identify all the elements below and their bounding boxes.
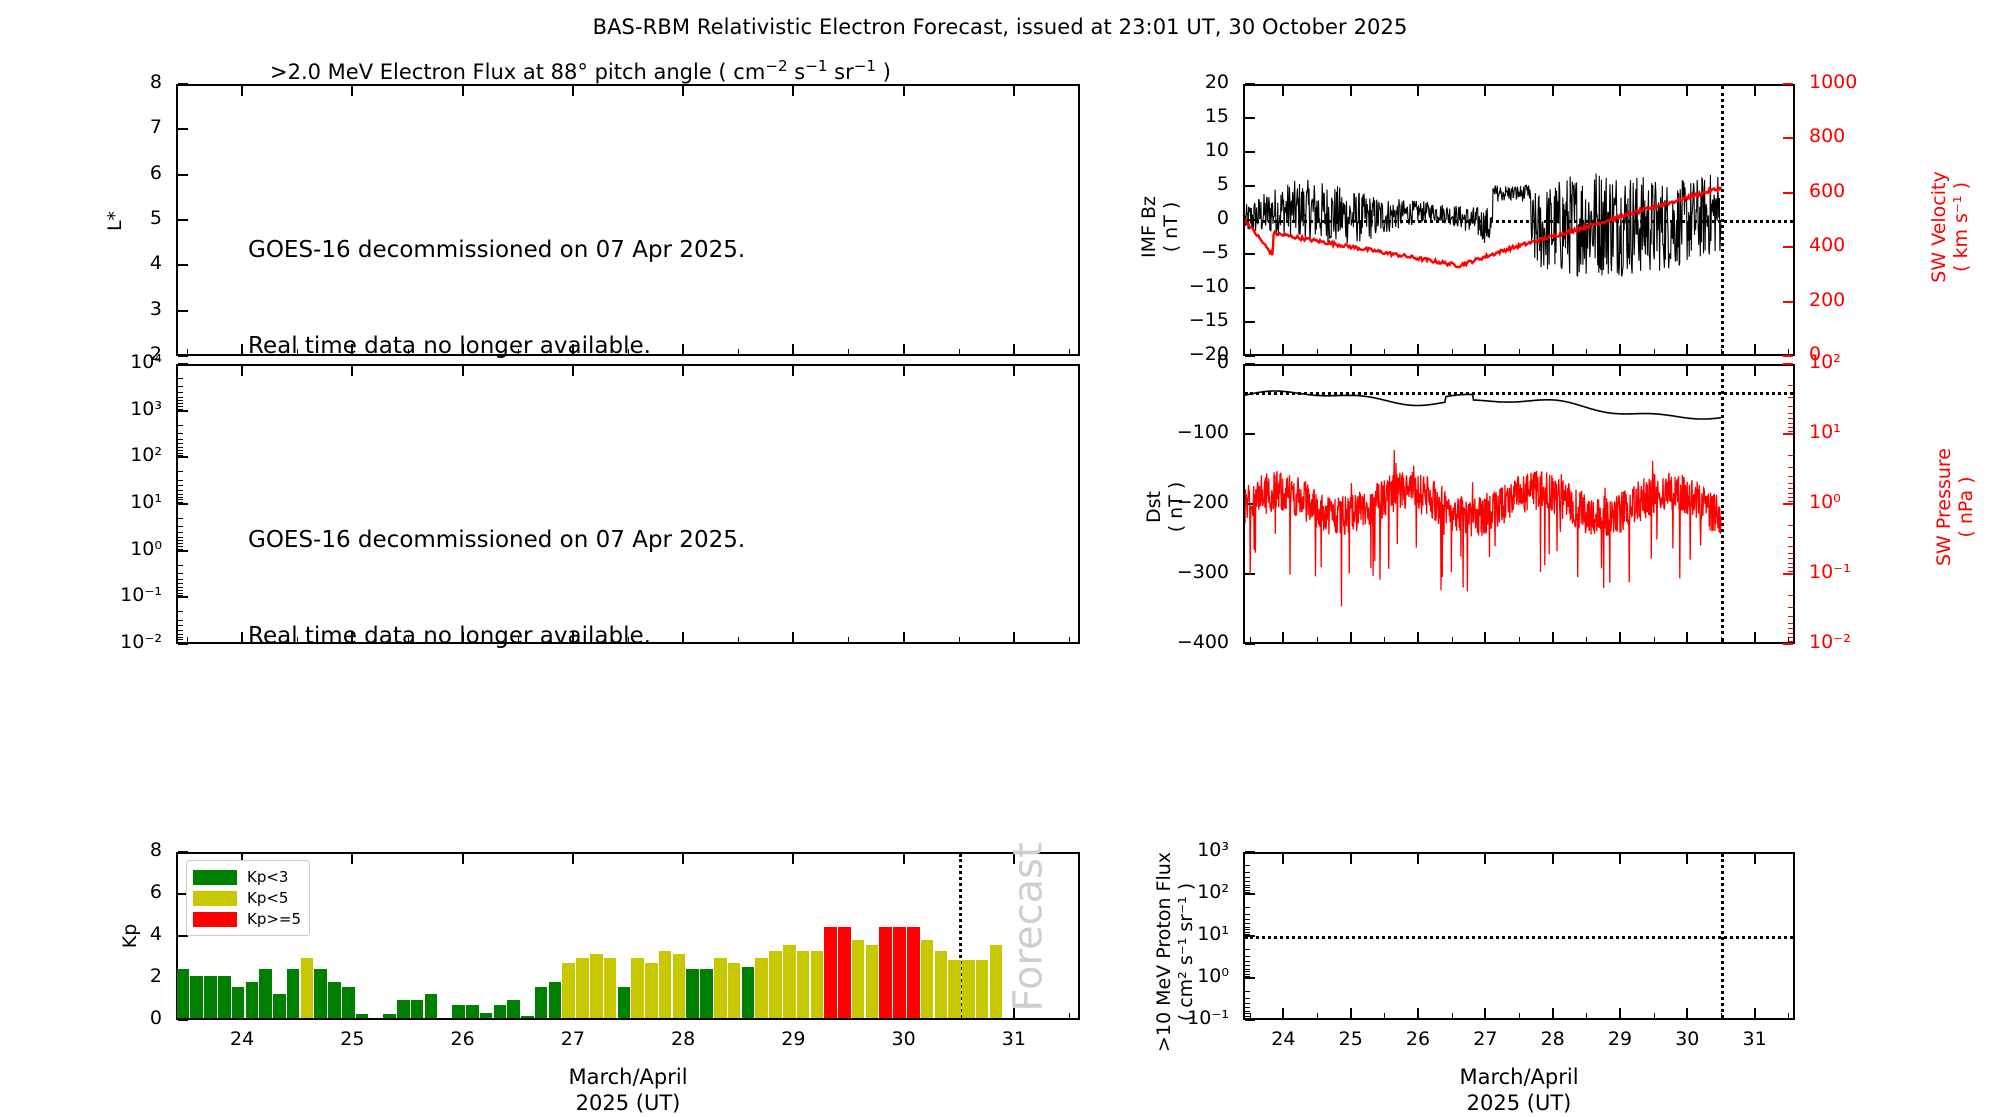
flux-y-minortick — [178, 397, 183, 398]
flux-xminortick — [242, 637, 243, 642]
proton-y-minortick — [1245, 919, 1250, 920]
proton-xtick-5: 29 — [1590, 1028, 1650, 1050]
flux-xminortick — [573, 637, 574, 642]
dst-y-tick-0: 0 — [1151, 351, 1229, 373]
kp-xtick-7: 31 — [984, 1028, 1044, 1050]
kp-bar — [480, 1013, 493, 1018]
lstar-xminortick — [297, 349, 298, 354]
flux-y-minortick — [178, 386, 183, 387]
proton-xtickmark-top-3 — [1484, 854, 1486, 864]
flux-y-minortick — [178, 409, 183, 410]
dst-line — [1245, 391, 1721, 419]
flux-y-minortick — [178, 499, 183, 500]
kp-xaxis-label-line1: March/April — [428, 1064, 828, 1090]
flux-y-tickmark-3 — [178, 503, 188, 505]
kp-xtickmark-top-1 — [351, 854, 353, 864]
flux-y-tick-6: 10⁻² — [84, 631, 162, 653]
imf-bz-series — [1245, 86, 1793, 354]
flux-y-minortick — [178, 403, 183, 404]
kp-bar — [535, 987, 548, 1018]
kp-bar — [549, 982, 562, 1018]
proton-xtickmark-top-5 — [1619, 854, 1621, 864]
flux-y-minortick — [178, 611, 183, 612]
subtitle-main: >2.0 MeV Electron Flux at 88 — [270, 60, 577, 84]
kp-bar — [177, 969, 190, 1018]
imf-y-tick-5: −5 — [1151, 241, 1229, 263]
swpres-y-tickmark-0 — [1783, 363, 1793, 365]
proton-xminortick — [1418, 1013, 1419, 1018]
flux-y-minortick — [178, 537, 183, 538]
kp-xtick-1: 25 — [322, 1028, 382, 1050]
lstar-y-tickmark-1 — [178, 128, 188, 130]
kp-legend-swatch-2 — [193, 912, 237, 927]
flux-y-tick-1: 10³ — [84, 398, 162, 420]
kp-xtickmark-top-6 — [903, 854, 905, 864]
imf-y-tickmark-8 — [1245, 355, 1255, 357]
swpres-y-tick-4: 10⁻² — [1809, 631, 1899, 653]
swvel-y-tick-0: 1000 — [1809, 71, 1899, 93]
flux-y-minortick — [178, 532, 183, 533]
proton-y-minortick — [1245, 927, 1250, 928]
kp-bar — [797, 951, 810, 1018]
kp-bar — [301, 958, 314, 1018]
flux-xminortick — [848, 637, 849, 642]
kp-bar — [190, 976, 203, 1018]
flux-xtickmark-top-5 — [792, 366, 794, 376]
kp-legend-swatch-1 — [193, 891, 237, 906]
flux-xminortick — [408, 637, 409, 642]
kp-bar — [879, 927, 892, 1018]
kp-bar — [397, 1000, 410, 1018]
kp-bar — [907, 927, 920, 1018]
proton-y-minortick — [1245, 991, 1250, 992]
lstar-y-tick-5: 3 — [84, 298, 162, 320]
swvel-y-tick-3: 400 — [1809, 234, 1899, 256]
lstar-y-tickmark-2 — [178, 174, 188, 176]
flux-y-minortick — [178, 400, 183, 401]
kp-bar — [811, 951, 824, 1018]
swvel-y-tick-2: 600 — [1809, 180, 1899, 202]
kp-bar — [659, 951, 672, 1018]
kp-xtick-4: 28 — [653, 1028, 713, 1050]
swvel-y-tickmark-0 — [1783, 83, 1793, 85]
imf-y-tick-7: −15 — [1151, 309, 1229, 331]
kp-bar — [356, 1014, 369, 1018]
flux-y-minortick — [178, 450, 183, 451]
flux-xminortick — [683, 637, 684, 642]
swpres-y-tick-1: 10¹ — [1809, 421, 1899, 443]
kp-y-tick-1: 6 — [84, 881, 162, 903]
proton-y-minortick — [1245, 887, 1250, 888]
flux-y-minortick — [178, 453, 183, 454]
lstar-y-tickmark-0 — [178, 83, 188, 85]
flux-xminortick — [738, 637, 739, 642]
lstar-xtickmark-top-6 — [903, 86, 905, 96]
flux-y-tickmark-4 — [178, 550, 188, 552]
proton-threshold-line — [1245, 936, 1793, 939]
dst-y-tickmark-0 — [1245, 363, 1255, 365]
flux-y-minortick — [178, 587, 183, 588]
proton-xminortick — [1485, 1013, 1486, 1018]
subtitle-exp-3: −1 — [854, 57, 876, 75]
lstar-xtickmark-top-4 — [682, 86, 684, 96]
kp-xtickmark-top-4 — [682, 854, 684, 864]
lstar-xminortick — [1069, 349, 1070, 354]
proton-xminortick — [1351, 1013, 1352, 1018]
flux-y-minortick — [178, 595, 183, 596]
flux-y-minortick — [178, 447, 183, 448]
proton-xminortick — [1620, 1013, 1621, 1018]
proton-y-minortick — [1245, 1018, 1250, 1019]
page-title: BAS-RBM Relativistic Electron Forecast, … — [0, 15, 2000, 39]
proton-y-minortick — [1245, 969, 1250, 970]
kp-bar — [769, 951, 782, 1018]
dst-series — [1245, 366, 1793, 642]
kp-legend-label-2: Kp>=5 — [247, 912, 301, 927]
dst-y-tickmark-4 — [1245, 643, 1255, 645]
flux-y-minortick — [178, 642, 183, 643]
flux-xminortick — [297, 637, 298, 642]
kp-bar — [328, 982, 341, 1018]
proton-y-minortick — [1245, 965, 1250, 966]
proton-y-minortick — [1245, 929, 1250, 930]
lstar-y-tickmark-3 — [178, 219, 188, 221]
proton-xminortick — [1788, 1013, 1789, 1018]
flux-xtickmark-top-2 — [462, 366, 464, 376]
kp-bar — [232, 987, 245, 1018]
lstar-xminortick — [352, 349, 353, 354]
kp-xtickmark-top-5 — [792, 854, 794, 864]
kp-xtick-5: 29 — [763, 1028, 823, 1050]
lstar-xminortick — [187, 349, 188, 354]
lstar-xtickmark-top-5 — [792, 86, 794, 96]
lstar-xminortick — [1014, 349, 1015, 354]
flux-xminortick — [1014, 637, 1015, 642]
flux-y-minortick — [178, 579, 183, 580]
lstar-xminortick — [683, 349, 684, 354]
kp-bar — [246, 982, 259, 1018]
flux-y-tick-3: 10¹ — [84, 491, 162, 513]
proton-xminortick — [1452, 1013, 1453, 1018]
flux-y-minortick — [178, 443, 183, 444]
flux-y-minortick — [178, 433, 183, 434]
proton-xaxis-label-line1: March/April — [1319, 1064, 1719, 1090]
proton-y-tickmark-3 — [1245, 977, 1255, 979]
proton-xminortick — [1586, 1013, 1587, 1018]
flux-y-minortick — [178, 490, 183, 491]
flux-xtickmark-top-0 — [241, 366, 243, 376]
proton-y-minortick — [1245, 885, 1250, 886]
electron-flux-subtitle: >2.0 MeV Electron Flux at 88° pitch angl… — [270, 57, 891, 84]
flux-y-minortick — [178, 546, 183, 547]
flux-y-minortick — [178, 593, 183, 594]
subtitle-mid-1: s — [788, 60, 806, 84]
proton-y-tick-2: 10¹ — [1151, 923, 1229, 945]
swpres-y-tick-3: 10⁻¹ — [1809, 561, 1899, 583]
swvel-y-tick-4: 200 — [1809, 289, 1899, 311]
lstar-xminortick — [463, 349, 464, 354]
proton-xtick-2: 26 — [1388, 1028, 1448, 1050]
lstar-xtickmark-top-2 — [462, 86, 464, 96]
flux-xtickmark-top-6 — [903, 366, 905, 376]
kp-y-tick-3: 2 — [84, 965, 162, 987]
flux-no-data-message: GOES-16 decommissioned on 07 Apr 2025. R… — [248, 462, 745, 716]
flux-y-tick-0: 10⁴ — [84, 351, 162, 373]
proton-y-minortick — [1245, 914, 1250, 915]
flux-y-minortick — [178, 573, 183, 574]
proton-y-minortick — [1245, 865, 1250, 866]
proton-y-minortick — [1245, 949, 1250, 950]
swvel-y-tick-1: 800 — [1809, 125, 1899, 147]
lstar-y-tickmark-5 — [178, 310, 188, 312]
kp-bar — [259, 969, 272, 1018]
kp-bar — [604, 958, 617, 1018]
kp-legend-item-1: Kp<5 — [193, 888, 301, 908]
imf-y-tick-2: 10 — [1151, 139, 1229, 161]
kp-bar — [383, 1014, 396, 1018]
kp-legend-label-1: Kp<5 — [247, 891, 288, 906]
proton-xaxis-label: March/April2025 (UT) — [1319, 1064, 1719, 1117]
flux-y-minortick — [178, 455, 183, 456]
kp-bar — [204, 976, 217, 1018]
kp-xaxis-label-line2: 2025 (UT) — [428, 1090, 828, 1116]
dst-y-tick-2: −200 — [1151, 491, 1229, 513]
proton-y-minortick — [1245, 1003, 1250, 1004]
proton-y-minortick — [1245, 881, 1250, 882]
kp-legend-swatch-0 — [193, 870, 237, 885]
flux-y-minortick — [178, 565, 183, 566]
flux-y-minortick — [178, 406, 183, 407]
proton-y-tick-3: 10⁰ — [1151, 965, 1229, 987]
kp-bar — [218, 976, 231, 1018]
flux-y-minortick — [178, 471, 183, 472]
sw-pressure-ylabel-line1: SW Pressure — [1933, 432, 1955, 582]
proton-y-minortick — [1245, 907, 1250, 908]
lstar-xminortick — [959, 349, 960, 354]
flux-xtickmark-top-1 — [351, 366, 353, 376]
imf-y-tick-0: 20 — [1151, 71, 1229, 93]
kp-bar — [962, 960, 975, 1018]
flux-xtickmark-top-4 — [682, 366, 684, 376]
lstar-xtickmark-top-7 — [1013, 86, 1015, 96]
kp-xminortick — [1014, 1013, 1015, 1018]
lstar-msg-line1: GOES-16 decommissioned on 07 Apr 2025. — [248, 235, 745, 267]
kp-bar — [935, 951, 948, 1018]
proton-y-minortick — [1245, 890, 1250, 891]
proton-y-minortick — [1245, 961, 1250, 962]
flux-y-minortick — [178, 637, 183, 638]
flux-msg-line2: Real time data no longer available. — [248, 621, 745, 653]
proton-y-minortick — [1245, 932, 1250, 933]
kp-bar — [521, 1016, 534, 1018]
lstar-xminortick — [848, 349, 849, 354]
proton-y-minortick — [1245, 934, 1250, 935]
swpres-y-tick-0: 10² — [1809, 351, 1899, 373]
kp-y-tick-2: 4 — [84, 923, 162, 945]
flux-y-minortick — [178, 583, 183, 584]
sw-velocity-ylabel: SW Velocity ( km s⁻¹ ) — [1928, 157, 1972, 297]
flux-y-minortick — [178, 502, 183, 503]
kp-bar — [686, 969, 699, 1018]
flux-xminortick — [793, 637, 794, 642]
lstar-y-tick-2: 6 — [84, 162, 162, 184]
kp-legend-label-0: Kp<3 — [247, 870, 288, 885]
kp-bar — [562, 963, 575, 1018]
proton-y-tick-0: 10³ — [1151, 839, 1229, 861]
proton-y-tickmark-4 — [1245, 1019, 1255, 1021]
kp-bar — [783, 945, 796, 1018]
proton-xminortick — [1283, 1013, 1284, 1018]
flux-y-minortick — [178, 590, 183, 591]
proton-xminortick — [1317, 1013, 1318, 1018]
proton-y-minortick — [1245, 998, 1250, 999]
kp-bar — [742, 967, 755, 1018]
subtitle-end: ) — [876, 60, 891, 84]
kp-bar — [976, 960, 989, 1018]
subtitle-tail: pitch angle ( cm — [588, 60, 765, 84]
kp-bar — [866, 945, 879, 1018]
kp-legend-item-0: Kp<3 — [193, 867, 301, 887]
lstar-xminortick — [573, 349, 574, 354]
lstar-y-tickmark-6 — [178, 355, 188, 357]
flux-y-minortick — [178, 392, 183, 393]
flux-xtickmark-top-7 — [1013, 366, 1015, 376]
proton-xtickmark-top-2 — [1417, 854, 1419, 864]
kp-bar — [576, 958, 589, 1018]
subtitle-exp-1: −2 — [765, 57, 787, 75]
subtitle-mid-2: sr — [828, 60, 854, 84]
kp-xtick-6: 30 — [874, 1028, 934, 1050]
kp-bar — [714, 958, 727, 1018]
flux-xminortick — [959, 637, 960, 642]
flux-y-tick-4: 10⁰ — [84, 538, 162, 560]
flux-y-minortick — [178, 378, 183, 379]
proton-y-tick-4: 10⁻¹ — [1151, 1007, 1229, 1029]
proton-y-tickmark-0 — [1245, 851, 1255, 853]
proton-y-minortick — [1245, 956, 1250, 957]
proton-xminortick — [1654, 1013, 1655, 1018]
proton-y-minortick — [1245, 974, 1250, 975]
kp-xminortick — [1069, 1013, 1070, 1018]
kp-y-tickmark-0 — [178, 851, 188, 853]
proton-xtickmark-top-6 — [1686, 854, 1688, 864]
flux-y-minortick — [178, 620, 183, 621]
proton-xminortick — [1687, 1013, 1688, 1018]
flux-xminortick — [518, 637, 519, 642]
flux-y-minortick — [178, 494, 183, 495]
proton-xaxis-label-line2: 2025 (UT) — [1319, 1090, 1719, 1116]
imf-y-tick-1: 15 — [1151, 105, 1229, 127]
dst-y-tick-3: −300 — [1151, 561, 1229, 583]
proton-y-minortick — [1245, 877, 1250, 878]
kp-bar — [728, 963, 741, 1018]
swpres-y-tickmark-4 — [1783, 643, 1793, 645]
dst-y-tick-1: −100 — [1151, 421, 1229, 443]
lstar-msg-line2: Real time data no longer available. — [248, 331, 745, 363]
flux-xtickmark-top-3 — [572, 366, 574, 376]
proton-xtick-0: 24 — [1253, 1028, 1313, 1050]
flux-xminortick — [463, 637, 464, 642]
imf-y-tickmark-0 — [1245, 83, 1255, 85]
sw-pressure-ylabel: SW Pressure ( nPa ) — [1933, 432, 1977, 582]
proton-xtickmark-top-7 — [1754, 854, 1756, 864]
flux-y-minortick — [178, 625, 183, 626]
kp-y-tickmark-4 — [178, 1019, 188, 1021]
lstar-xminortick — [628, 349, 629, 354]
flux-y-tickmark-6 — [178, 643, 188, 645]
kp-bar — [273, 994, 286, 1018]
kp-bar — [948, 960, 961, 1018]
proton-y-minortick — [1245, 923, 1250, 924]
lstar-xtickmark-top-1 — [351, 86, 353, 96]
imf-y-tick-6: −10 — [1151, 275, 1229, 297]
kp-bar — [425, 994, 438, 1018]
flux-y-minortick — [178, 543, 183, 544]
lstar-y-tick-3: 5 — [84, 207, 162, 229]
flux-y-minortick — [178, 439, 183, 440]
lstar-xminortick — [518, 349, 519, 354]
swpres-y-tick-2: 10⁰ — [1809, 491, 1899, 513]
kp-bar — [673, 954, 686, 1018]
lstar-xminortick — [242, 349, 243, 354]
proton-xtick-1: 25 — [1321, 1028, 1381, 1050]
flux-y-tick-5: 10⁻¹ — [84, 584, 162, 606]
sw-velocity-ylabel-line2: ( km s⁻¹ ) — [1950, 157, 1972, 297]
proton-y-minortick — [1245, 976, 1250, 977]
lstar-y-tick-0: 8 — [84, 71, 162, 93]
sw-velocity-ylabel-line1: SW Velocity — [1928, 157, 1950, 297]
kp-bar — [314, 969, 327, 1018]
proton-xtickmark-top-4 — [1552, 854, 1554, 864]
kp-bar — [631, 958, 644, 1018]
kp-xtick-2: 26 — [433, 1028, 493, 1050]
kp-legend: Kp<3Kp<5Kp>=5 — [186, 860, 310, 936]
imf-y-tick-3: 5 — [1151, 173, 1229, 195]
kp-xtickmark-top-3 — [572, 854, 574, 864]
kp-bar — [645, 963, 658, 1018]
kp-y-tick-0: 8 — [84, 839, 162, 861]
flux-xminortick — [187, 637, 188, 642]
kp-bar — [287, 969, 300, 1018]
flux-xminortick — [628, 637, 629, 642]
kp-xaxis-label: March/April2025 (UT) — [428, 1064, 828, 1117]
flux-xminortick — [352, 637, 353, 642]
flux-y-minortick — [178, 497, 183, 498]
sw-pressure-line — [1245, 450, 1721, 606]
flux-y-minortick — [178, 480, 183, 481]
proton-xminortick — [1755, 1013, 1756, 1018]
flux-msg-line1: GOES-16 decommissioned on 07 Apr 2025. — [248, 525, 745, 557]
kp-bar — [618, 987, 631, 1018]
proton-xminortick — [1553, 1013, 1554, 1018]
imf-bz-line — [1245, 174, 1721, 277]
kp-bar — [342, 987, 355, 1018]
flux-y-tickmark-0 — [178, 363, 188, 365]
imf-y-tick-4: 0 — [1151, 207, 1229, 229]
proton-xminortick — [1519, 1013, 1520, 1018]
kp-legend-item-2: Kp>=5 — [193, 909, 301, 929]
flux-y-tickmark-5 — [178, 596, 188, 598]
flux-y-tick-2: 10² — [84, 444, 162, 466]
flux-xminortick — [904, 637, 905, 642]
flux-y-minortick — [178, 540, 183, 541]
proton-xtick-6: 30 — [1657, 1028, 1717, 1050]
proton-xtickmark-top-0 — [1282, 854, 1284, 864]
kp-bar — [893, 927, 906, 1018]
flux-y-minortick — [178, 639, 183, 640]
kp-xtickmark-top-2 — [462, 854, 464, 864]
kp-xtick-0: 24 — [212, 1028, 272, 1050]
